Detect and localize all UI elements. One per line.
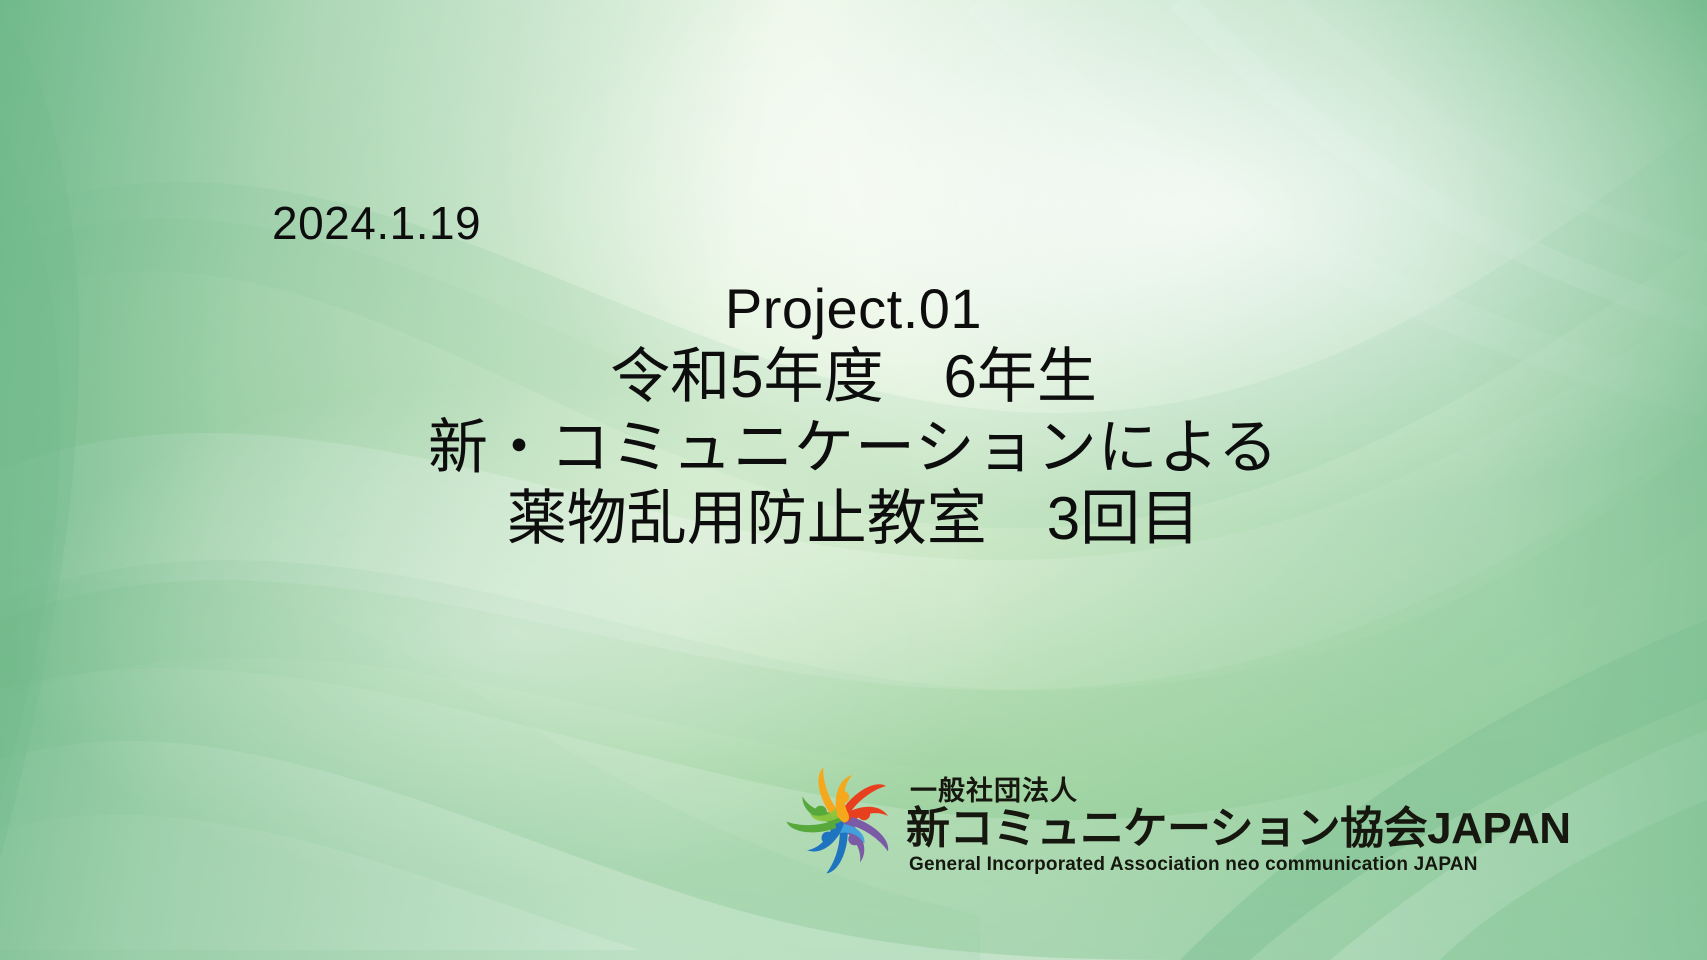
title-line-grade: 令和5年度 6年生 xyxy=(0,342,1707,413)
title-line-project: Project.01 xyxy=(0,276,1707,342)
logo-kicker: 一般社団法人 xyxy=(910,777,1571,805)
presentation-slide: 2024.1.19 Project.01 令和5年度 6年生 新・コミュニケーシ… xyxy=(0,0,1707,960)
logo-organization-name: 新コミュニケーション協会JAPAN xyxy=(906,806,1571,852)
slide-date: 2024.1.19 xyxy=(272,196,481,250)
logo-organization-name-english: General Incorporated Association neo com… xyxy=(909,855,1571,876)
neo-communication-pinwheel-logo-icon xyxy=(786,764,898,876)
organization-logo: 一般社団法人 新コミュニケーション協会JAPAN General Incorpo… xyxy=(786,758,1426,878)
logo-text-group: 一般社団法人 新コミュニケーション協会JAPAN General Incorpo… xyxy=(906,777,1571,878)
slide-title-block: Project.01 令和5年度 6年生 新・コミュニケーションによる 薬物乱用… xyxy=(0,276,1707,554)
title-line-class: 薬物乱用防止教室 3回目 xyxy=(0,484,1707,555)
title-line-communication: 新・コミュニケーションによる xyxy=(0,413,1707,484)
